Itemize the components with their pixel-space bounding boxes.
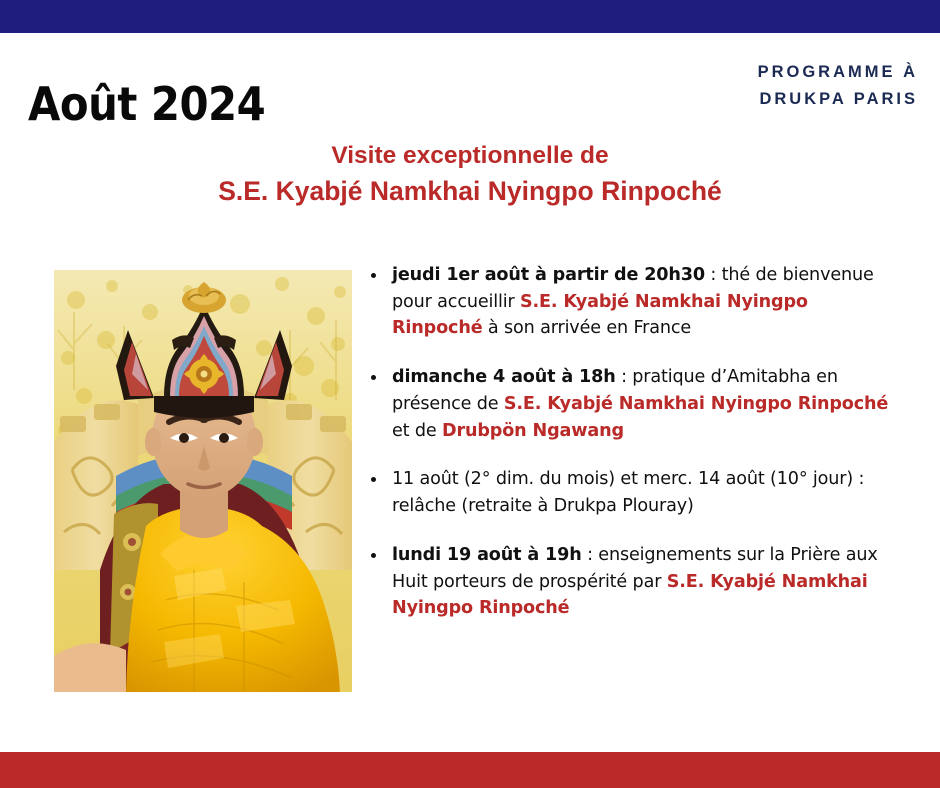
top-accent-bar <box>0 0 940 33</box>
list-item-text: 11 août (2° dim. du mois) et merc. 14 ao… <box>392 469 864 516</box>
page-header: Août 2024 PROGRAMME À DRUKPA PARIS <box>0 33 940 130</box>
bullet-dot-icon <box>371 273 376 278</box>
month-title: Août 2024 <box>28 81 265 128</box>
list-item: 11 août (2° dim. du mois) et merc. 14 ao… <box>368 466 898 519</box>
content-area: jeudi 1er août à partir de 20h30 : thé d… <box>0 262 940 702</box>
page-title-line-2: S.E. Kyabjé Namkhai Nyingpo Rinpoché <box>0 175 940 209</box>
list-item-highlight: Drubpön Ngawang <box>442 421 624 441</box>
list-item: lundi 19 août à 19h : enseignements sur … <box>368 542 898 622</box>
schedule-list: jeudi 1er août à partir de 20h30 : thé d… <box>368 262 898 622</box>
list-item-text: à son arrivée en France <box>482 318 691 338</box>
bullet-dot-icon <box>371 477 376 482</box>
list-item-highlight: S.E. Kyabjé Namkhai Nyingpo Rinpoché <box>504 394 888 414</box>
bullet-dot-icon <box>371 553 376 558</box>
page-title-line-1: Visite exceptionnelle de <box>0 140 940 171</box>
list-item: dimanche 4 août à 18h : pratique d’Amita… <box>368 364 898 444</box>
list-item: jeudi 1er août à partir de 20h30 : thé d… <box>368 262 898 342</box>
list-item-text: et de <box>392 421 442 441</box>
rinpoche-portrait-photo <box>54 270 352 692</box>
bottom-accent-bar <box>0 752 940 788</box>
portrait-illustration <box>54 270 352 692</box>
page-title: Visite exceptionnelle de S.E. Kyabjé Nam… <box>0 140 940 209</box>
list-item-date: dimanche 4 août à 18h <box>392 367 616 387</box>
list-item-date: lundi 19 août à 19h <box>392 545 582 565</box>
program-label: PROGRAMME À DRUKPA PARIS <box>758 59 918 112</box>
bullet-dot-icon <box>371 375 376 380</box>
list-item-date: jeudi 1er août à partir de 20h30 <box>392 265 705 285</box>
